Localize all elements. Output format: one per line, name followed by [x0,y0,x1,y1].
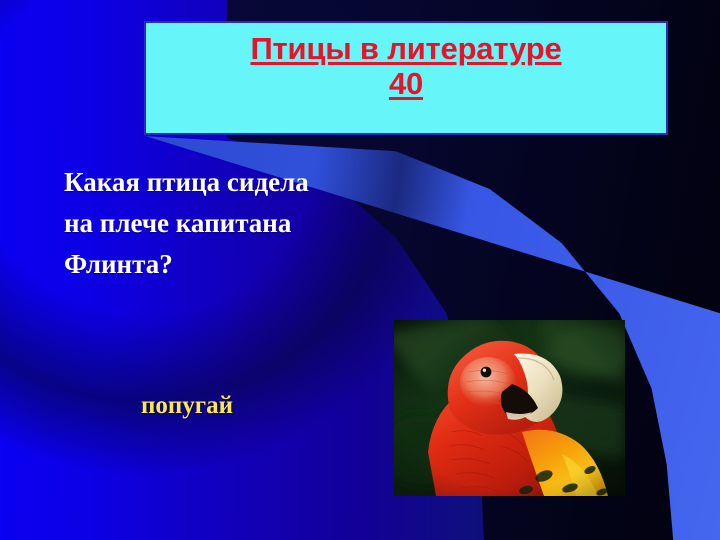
page-title: Птицы в литературе 40 [250,31,561,101]
title-plaque: Птицы в литературе 40 [144,21,668,135]
question-text: Какая птица сидела на плече капитана Фли… [64,162,424,285]
parrot-photo [394,320,625,496]
parrot-photo-artwork [394,320,625,496]
answer-text: попугай [141,392,233,420]
slide-canvas: Птицы в литературе 40 Какая птица сидела… [0,0,720,540]
